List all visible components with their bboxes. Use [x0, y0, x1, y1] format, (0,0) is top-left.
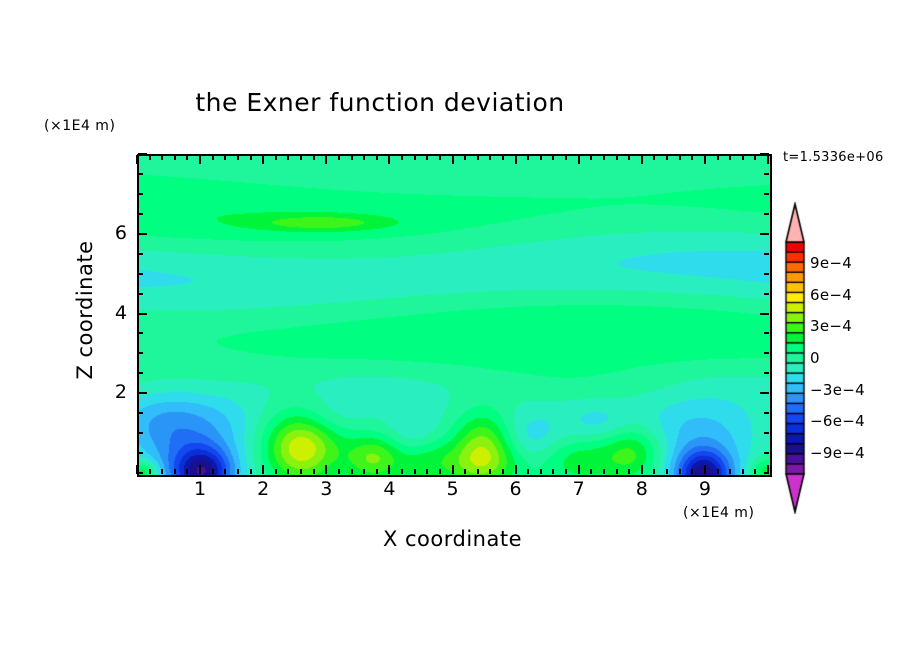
y-tick	[760, 392, 769, 394]
x-tick	[641, 465, 643, 474]
x-tick	[578, 465, 580, 474]
x-tick	[439, 469, 441, 474]
y-axis-title: Z coordinate	[73, 210, 97, 410]
x-tick	[729, 155, 731, 160]
y-tick	[138, 173, 143, 175]
y-tick	[138, 273, 143, 275]
x-tick	[603, 155, 605, 160]
x-tick	[439, 155, 441, 160]
x-tick	[376, 469, 378, 474]
x-tick-label: 3	[311, 478, 341, 500]
y-tick	[138, 293, 143, 295]
x-tick	[376, 155, 378, 160]
x-tick	[237, 469, 239, 474]
y-tick	[764, 213, 769, 215]
colorbar-tick-label: −3e−4	[810, 381, 865, 399]
x-tick	[628, 469, 630, 474]
x-tick	[742, 155, 744, 160]
x-tick	[161, 155, 163, 160]
x-tick	[262, 465, 264, 474]
x-tick	[250, 469, 252, 474]
y-tick	[764, 173, 769, 175]
y-tick	[138, 213, 143, 215]
x-tick	[527, 469, 529, 474]
x-tick	[502, 469, 504, 474]
x-tick	[275, 155, 277, 160]
x-tick	[477, 155, 479, 160]
y-tick	[138, 193, 143, 195]
x-tick	[489, 469, 491, 474]
plot-area	[137, 154, 772, 477]
colorbar-gradient	[780, 202, 810, 514]
y-tick	[138, 412, 143, 414]
x-tick	[275, 469, 277, 474]
x-axis-unit-label: (×1E4 m)	[683, 505, 754, 521]
x-tick	[287, 155, 289, 160]
x-tick-label: 1	[185, 478, 215, 500]
y-tick	[138, 472, 143, 474]
x-tick	[351, 469, 353, 474]
x-tick	[237, 155, 239, 160]
y-tick	[138, 392, 147, 394]
x-tick	[691, 469, 693, 474]
colorbar-tick-label: −9e−4	[810, 444, 865, 462]
y-tick	[764, 193, 769, 195]
x-tick	[464, 469, 466, 474]
y-tick	[138, 332, 143, 334]
x-tick	[502, 155, 504, 160]
x-tick	[212, 469, 214, 474]
x-tick	[515, 465, 517, 474]
x-tick	[552, 155, 554, 160]
y-tick	[138, 352, 143, 354]
y-tick-label: 4	[97, 302, 127, 324]
y-tick	[760, 313, 769, 315]
contour-field	[139, 156, 770, 475]
x-tick	[199, 465, 201, 474]
x-tick	[717, 155, 719, 160]
y-tick	[764, 372, 769, 374]
time-annotation: t=1.5336e+06	[783, 150, 884, 165]
x-tick-label: 9	[690, 478, 720, 500]
y-tick-label: 6	[97, 222, 127, 244]
x-tick-label: 6	[501, 478, 531, 500]
page-title: the Exner function deviation	[0, 88, 760, 117]
y-tick	[764, 412, 769, 414]
x-tick-label: 4	[374, 478, 404, 500]
contour-plot-figure: the Exner function deviation (×1E4 m) (×…	[0, 0, 904, 654]
x-tick	[363, 155, 365, 160]
x-tick	[313, 469, 315, 474]
x-tick	[250, 155, 252, 160]
x-tick	[679, 469, 681, 474]
x-tick	[754, 469, 756, 474]
colorbar	[780, 202, 810, 514]
x-tick	[704, 155, 706, 164]
x-tick	[388, 155, 390, 164]
x-tick	[401, 155, 403, 160]
x-tick	[174, 155, 176, 160]
x-tick-label: 7	[564, 478, 594, 500]
x-tick	[464, 155, 466, 160]
x-tick	[363, 469, 365, 474]
y-tick	[764, 352, 769, 354]
x-tick	[212, 155, 214, 160]
x-tick	[136, 155, 138, 164]
x-tick	[717, 469, 719, 474]
x-tick	[691, 155, 693, 160]
y-tick	[138, 233, 147, 235]
y-tick	[764, 452, 769, 454]
y-axis-unit-label: (×1E4 m)	[44, 118, 115, 134]
x-tick	[300, 155, 302, 160]
x-tick	[186, 469, 188, 474]
x-tick	[704, 465, 706, 474]
x-tick	[565, 155, 567, 160]
x-tick	[325, 465, 327, 474]
x-tick	[338, 155, 340, 160]
x-tick	[754, 155, 756, 160]
colorbar-tick-label: 6e−4	[810, 286, 852, 304]
x-tick	[540, 469, 542, 474]
x-tick	[515, 155, 517, 164]
x-tick	[426, 469, 428, 474]
y-tick	[760, 153, 769, 155]
x-tick	[489, 155, 491, 160]
x-tick	[742, 469, 744, 474]
x-axis-title: X coordinate	[137, 527, 768, 551]
x-tick	[224, 155, 226, 160]
x-tick	[540, 155, 542, 160]
x-tick	[351, 155, 353, 160]
x-tick	[262, 155, 264, 164]
colorbar-tick-label: 0	[810, 349, 820, 367]
colorbar-tick-label: 3e−4	[810, 317, 852, 335]
x-tick	[653, 155, 655, 160]
y-tick	[138, 372, 143, 374]
x-tick-label: 5	[438, 478, 468, 500]
y-tick-label: 2	[97, 381, 127, 403]
x-tick	[388, 465, 390, 474]
y-tick	[138, 313, 147, 315]
x-tick	[149, 155, 151, 160]
y-tick	[138, 452, 143, 454]
x-tick	[300, 469, 302, 474]
x-tick	[666, 155, 668, 160]
colorbar-tick-label: 9e−4	[810, 254, 852, 272]
x-tick	[325, 155, 327, 164]
x-tick-label: 2	[248, 478, 278, 500]
x-tick	[628, 155, 630, 160]
y-tick	[764, 332, 769, 334]
y-tick	[764, 273, 769, 275]
x-tick	[679, 155, 681, 160]
y-tick	[764, 472, 769, 474]
x-tick	[729, 469, 731, 474]
x-tick	[174, 469, 176, 474]
x-tick	[527, 155, 529, 160]
x-tick	[161, 469, 163, 474]
x-tick	[666, 469, 668, 474]
colorbar-tick-label: −6e−4	[810, 412, 865, 430]
y-tick	[138, 253, 143, 255]
x-tick	[414, 469, 416, 474]
x-tick	[616, 469, 618, 474]
x-tick	[641, 155, 643, 164]
x-tick	[186, 155, 188, 160]
x-tick	[578, 155, 580, 164]
x-tick	[552, 469, 554, 474]
x-tick	[338, 469, 340, 474]
x-tick	[767, 155, 769, 164]
y-tick	[764, 253, 769, 255]
x-tick	[414, 155, 416, 160]
x-tick	[653, 469, 655, 474]
x-tick	[616, 155, 618, 160]
x-tick	[199, 155, 201, 164]
x-tick	[452, 465, 454, 474]
x-tick	[590, 155, 592, 160]
x-tick	[401, 469, 403, 474]
x-tick	[603, 469, 605, 474]
x-tick	[452, 155, 454, 164]
x-tick	[313, 155, 315, 160]
x-tick	[224, 469, 226, 474]
x-tick	[477, 469, 479, 474]
y-tick	[138, 153, 147, 155]
x-tick	[590, 469, 592, 474]
y-tick	[760, 233, 769, 235]
x-tick	[149, 469, 151, 474]
x-tick	[565, 469, 567, 474]
x-tick-label: 8	[627, 478, 657, 500]
x-tick	[287, 469, 289, 474]
y-tick	[764, 293, 769, 295]
y-tick	[764, 432, 769, 434]
y-tick	[138, 432, 143, 434]
x-tick	[426, 155, 428, 160]
